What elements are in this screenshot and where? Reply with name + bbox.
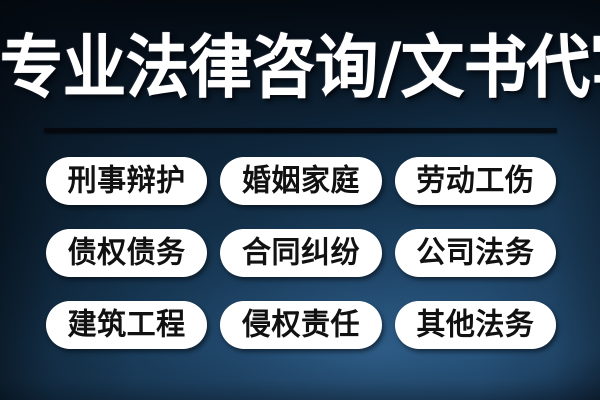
headline-container: 专业法律咨询/文书代写 [0, 26, 600, 104]
service-pill-label: 建筑工程 [68, 309, 186, 339]
service-pill-label: 刑事辩护 [68, 165, 186, 195]
service-pill-tort-liability[interactable]: 侵权责任 [220, 301, 381, 349]
service-pill-grid: 刑事辩护 婚姻家庭 劳动工伤 债权债务 合同纠纷 公司法务 建筑工程 侵权责任 … [46, 157, 556, 349]
service-pill-label: 侵权责任 [242, 309, 360, 339]
service-pill-construction-engineering[interactable]: 建筑工程 [46, 301, 207, 349]
legal-services-poster: 专业法律咨询/文书代写 刑事辩护 婚姻家庭 劳动工伤 债权债务 合同纠纷 公司法… [0, 0, 600, 400]
service-pill-label: 合同纠纷 [242, 237, 360, 267]
service-pill-label: 债权债务 [68, 237, 186, 267]
service-pill-other-legal[interactable]: 其他法务 [395, 301, 556, 349]
page-title: 专业法律咨询/文书代写 [0, 26, 600, 110]
service-pill-contract-dispute[interactable]: 合同纠纷 [220, 229, 381, 277]
service-pill-label: 婚姻家庭 [242, 165, 360, 195]
service-pill-label: 其他法务 [416, 309, 534, 339]
title-divider-rule [44, 128, 557, 133]
service-pill-corporate-legal[interactable]: 公司法务 [395, 229, 556, 277]
service-pill-creditor-debt[interactable]: 债权债务 [46, 229, 207, 277]
service-pill-marriage-family[interactable]: 婚姻家庭 [220, 157, 381, 205]
service-pill-labor-injury[interactable]: 劳动工伤 [395, 157, 556, 205]
service-pill-label: 劳动工伤 [416, 165, 534, 195]
service-pill-label: 公司法务 [416, 237, 534, 267]
service-pill-criminal-defense[interactable]: 刑事辩护 [46, 157, 207, 205]
